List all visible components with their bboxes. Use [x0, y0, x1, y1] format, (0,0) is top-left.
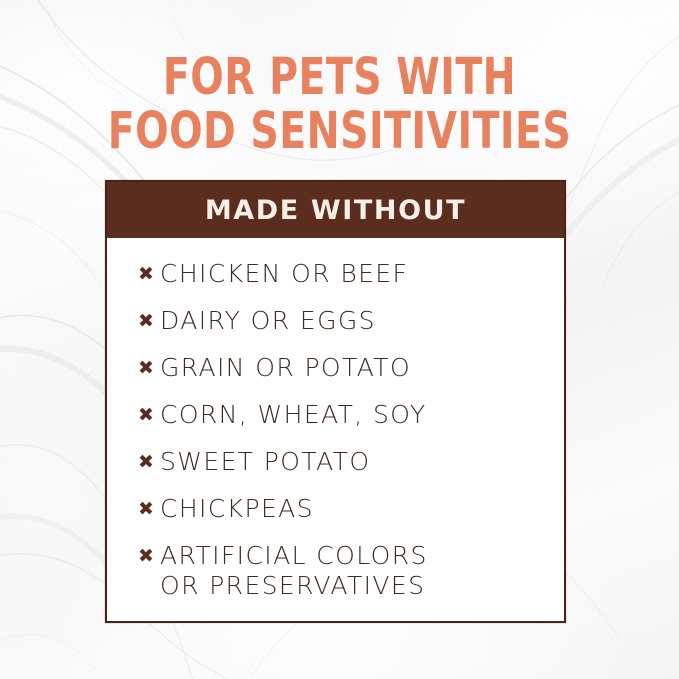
list-item: ✖ CORN, WHEAT, SOY — [138, 400, 564, 430]
list-item-label: DAIRY OR EGGS — [160, 306, 376, 336]
poster-canvas: FOR PETS WITH FOOD SENSITIVITIES MADE WI… — [0, 0, 679, 679]
list-item-label: CHICKEN OR BEEF — [160, 259, 408, 289]
card-header-band: MADE WITHOUT — [107, 182, 564, 238]
card-body: ✖ CHICKEN OR BEEF ✖ DAIRY OR EGGS ✖ GRAI… — [107, 238, 564, 621]
list-item-label: CHICKPEAS — [160, 494, 314, 524]
made-without-card: MADE WITHOUT ✖ CHICKEN OR BEEF ✖ DAIRY O… — [105, 180, 566, 623]
list-item: ✖ GRAIN OR POTATO — [138, 353, 564, 383]
x-mark-icon: ✖ — [138, 447, 160, 477]
x-mark-icon: ✖ — [138, 353, 160, 383]
card-header-title: MADE WITHOUT — [205, 197, 466, 224]
list-item: ✖ DAIRY OR EGGS — [138, 306, 564, 336]
headline-line-1: FOR PETS WITH — [48, 51, 632, 105]
headline-line-2: FOOD SENSITIVITIES — [48, 105, 632, 159]
x-mark-icon: ✖ — [138, 494, 160, 524]
exclusion-list: ✖ CHICKEN OR BEEF ✖ DAIRY OR EGGS ✖ GRAI… — [138, 259, 564, 601]
list-item: ✖ CHICKEN OR BEEF — [138, 259, 564, 289]
list-item-label: GRAIN OR POTATO — [160, 353, 411, 383]
list-item-label: ARTIFICIAL COLORS OR PRESERVATIVES — [160, 541, 428, 601]
x-mark-icon: ✖ — [138, 400, 160, 430]
list-item-label: SWEET POTATO — [160, 447, 370, 477]
x-mark-icon: ✖ — [138, 306, 160, 336]
list-item: ✖ ARTIFICIAL COLORS OR PRESERVATIVES — [138, 541, 564, 601]
x-mark-icon: ✖ — [138, 259, 160, 289]
list-item: ✖ SWEET POTATO — [138, 447, 564, 477]
page-title: FOR PETS WITH FOOD SENSITIVITIES — [0, 51, 679, 159]
list-item: ✖ CHICKPEAS — [138, 494, 564, 524]
x-mark-icon: ✖ — [138, 541, 160, 571]
list-item-label: CORN, WHEAT, SOY — [160, 400, 427, 430]
